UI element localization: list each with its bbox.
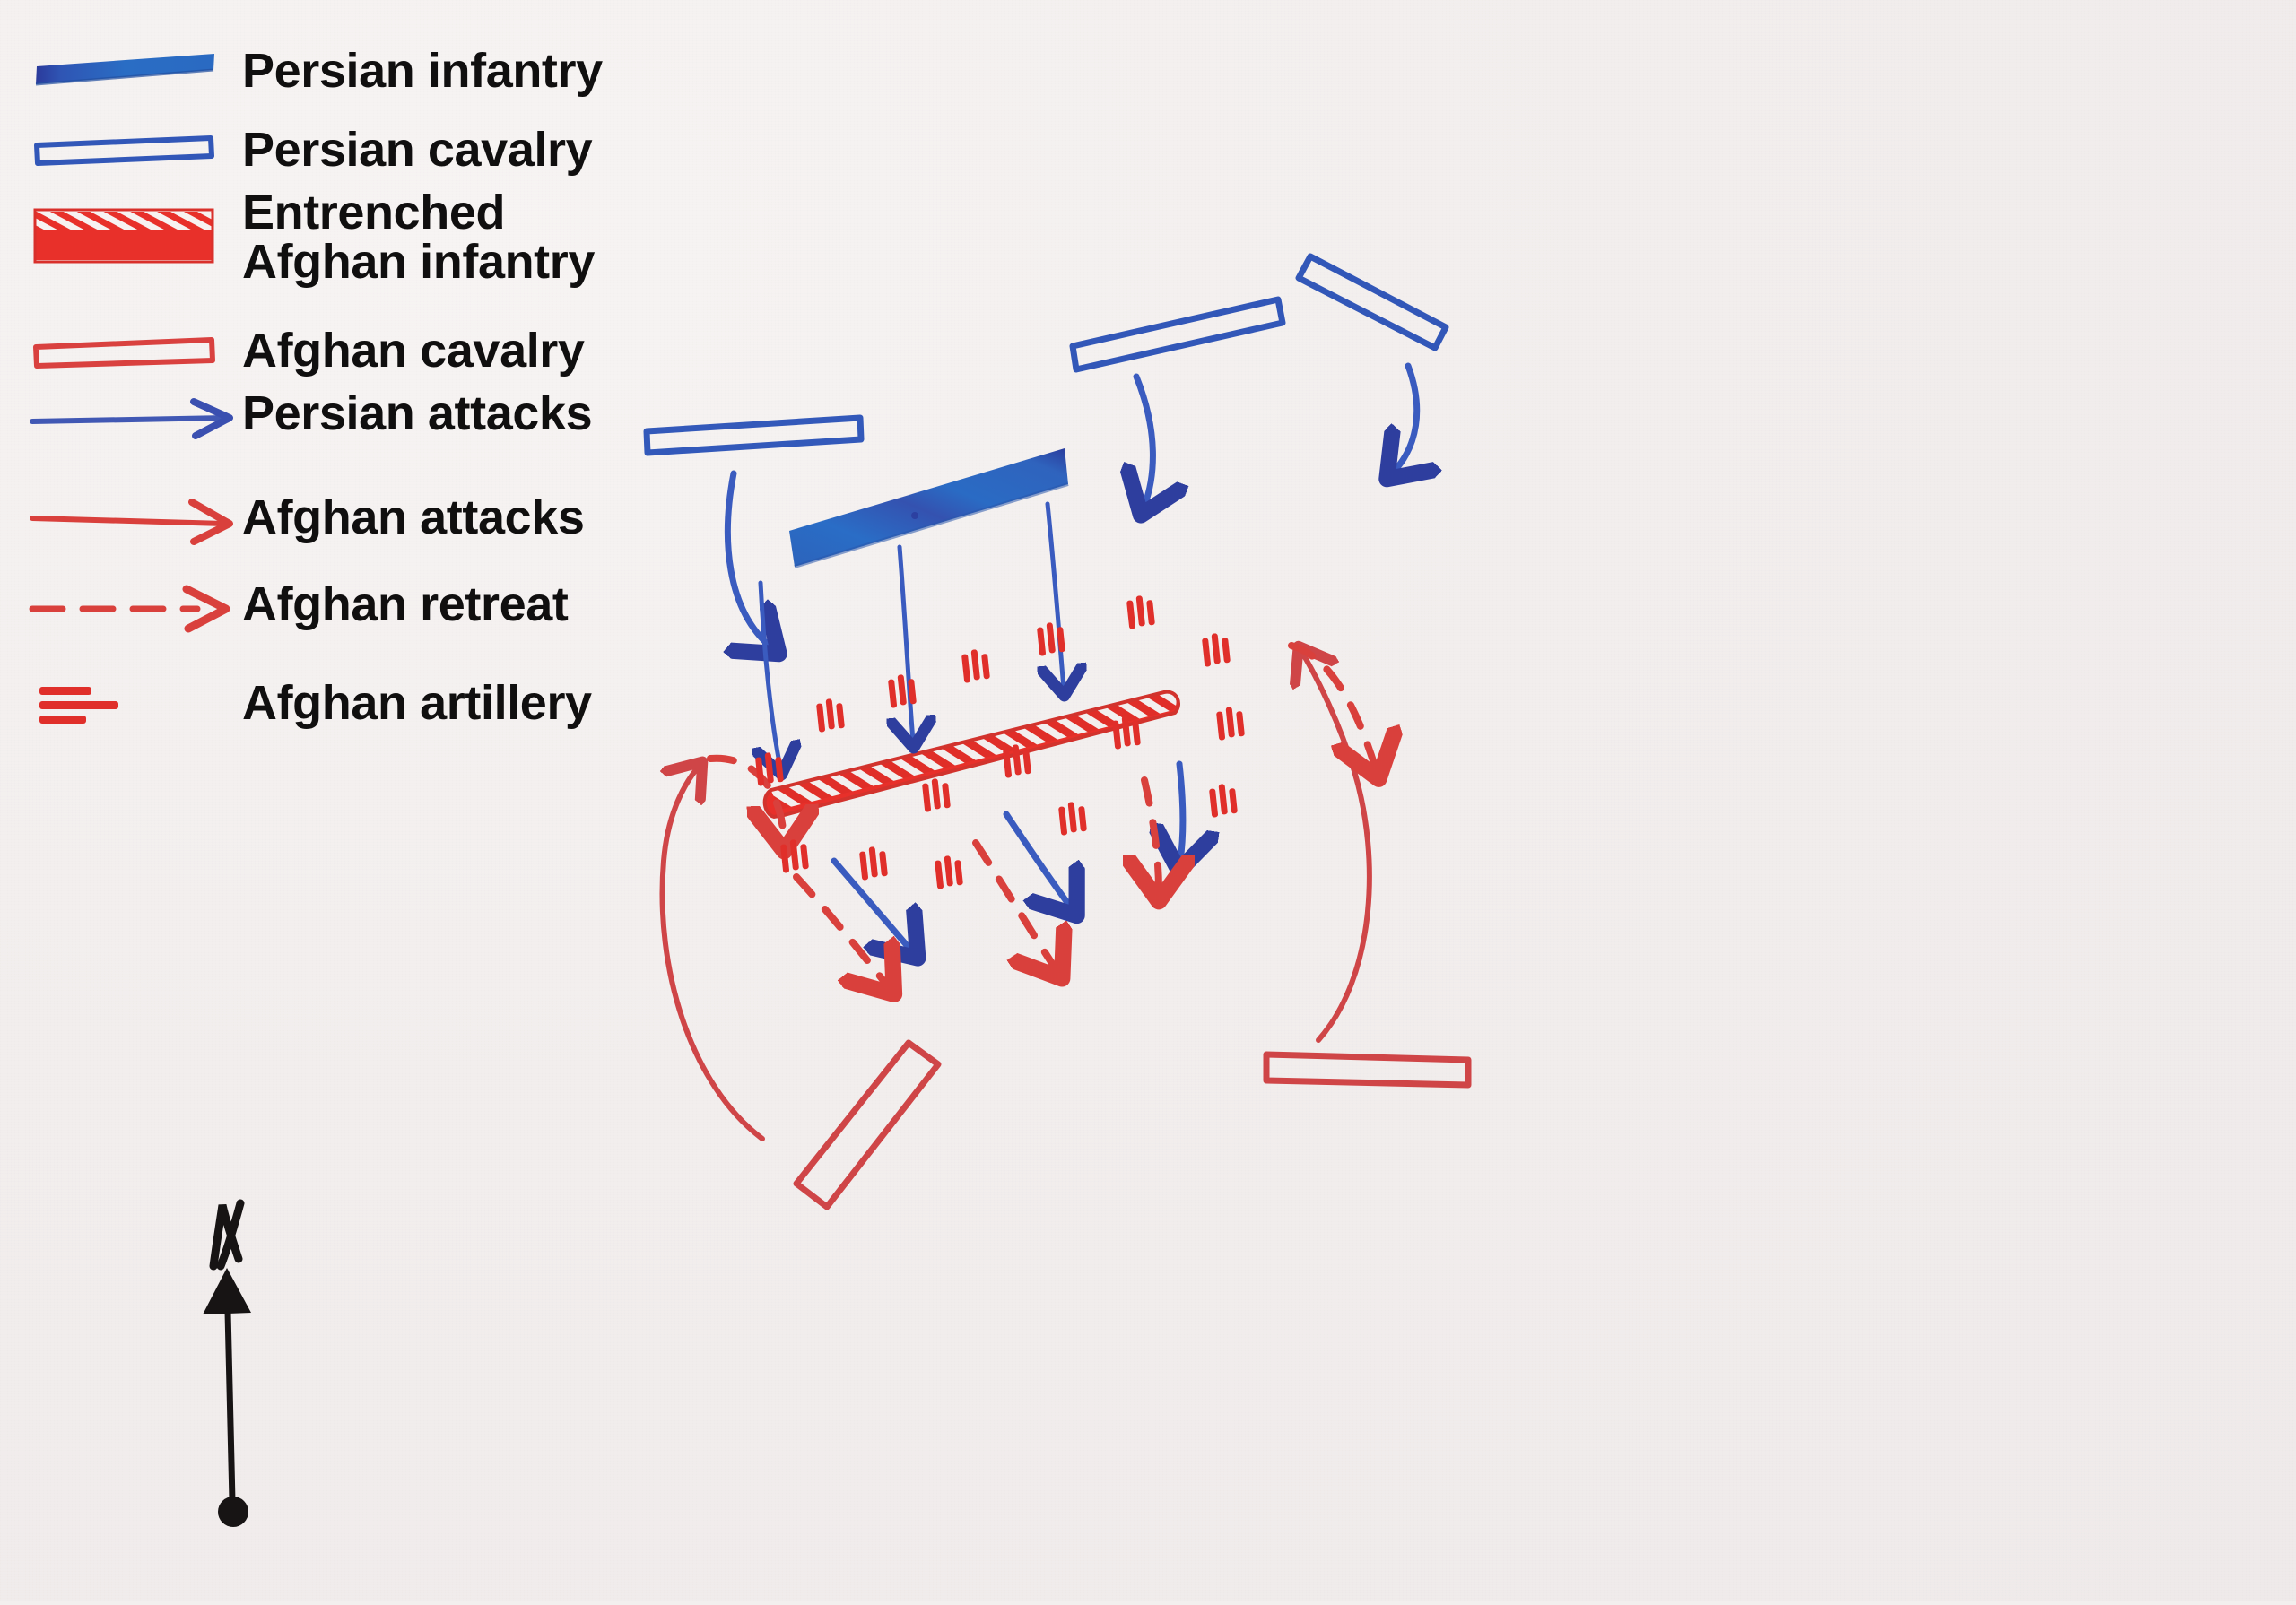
legend-item-afghan-artillery: Afghan artillery <box>0 672 592 735</box>
legend-label-persian-cavalry: Persian cavalry <box>242 126 592 175</box>
compass-north-arrow <box>161 1166 386 1551</box>
legend-swatch-persian-cavalry <box>27 124 231 178</box>
legend-item-persian-infantry: Persian infantry <box>0 45 603 99</box>
arrow-persian-attack-5 <box>1136 377 1152 506</box>
legend-swatch-entrenched-afghan-infantry <box>27 197 231 278</box>
legend-label-afghan-retreat: Afghan retreat <box>242 580 568 629</box>
arrow-persian-attack-9 <box>1179 764 1183 861</box>
unit-persian-infantry-main <box>789 448 1068 567</box>
artillery-icon <box>961 648 991 683</box>
arrow-afghan-retreat-centre-right <box>976 843 1057 970</box>
unit-persian-cavalry-right-outer <box>1299 256 1446 348</box>
unit-afghan-cavalry-right <box>1266 1054 1468 1085</box>
legend-label-afghan-cavalry: Afghan cavalry <box>242 326 585 376</box>
arrow-afghan-retreat-right-inner <box>1144 780 1159 891</box>
legend-item-persian-cavalry: Persian cavalry <box>0 124 592 178</box>
arrow-afghan-retreat-centre <box>796 877 888 986</box>
unit-persian-cavalry-right-inner <box>1073 299 1283 369</box>
artillery-icon <box>935 855 964 889</box>
artillery-icon <box>1037 621 1066 656</box>
legend-item-afghan-attacks: Afghan attacks <box>0 491 585 545</box>
compass-arrowhead <box>203 1268 251 1314</box>
legend-item-persian-attacks: Persian attacks <box>0 387 592 441</box>
legend-item-afghan-cavalry: Afghan cavalry <box>0 325 585 378</box>
unit-afghan-cavalry-left <box>796 1043 938 1207</box>
legend-swatch-persian-attacks <box>27 387 231 441</box>
artillery-icon <box>888 673 918 708</box>
artillery-icon <box>1202 632 1231 667</box>
compass-label-n <box>213 1203 240 1266</box>
legend-label-afghan-artillery: Afghan artillery <box>242 679 592 728</box>
artillery-icon <box>1058 801 1088 836</box>
legend-label-entrenched-afghan-infantry: Entrenched Afghan infantry <box>242 188 595 287</box>
compass-origin-dot <box>218 1497 248 1527</box>
compass-stem <box>228 1312 232 1501</box>
artillery-icon <box>1216 706 1246 741</box>
arrow-afghan-attack-right <box>1302 653 1370 1040</box>
artillery-icon <box>1126 594 1156 629</box>
legend-label-persian-infantry: Persian infantry <box>242 47 603 96</box>
arrow-persian-attack-3 <box>900 547 913 741</box>
battle-map <box>807 233 2296 1605</box>
legend-swatch-afghan-artillery <box>27 672 231 735</box>
legend-swatch-persian-infantry <box>27 45 231 99</box>
arrow-persian-attack-6 <box>1394 366 1417 472</box>
artillery-icon <box>816 698 846 733</box>
legend-item-entrenched-afghan-infantry: Entrenched Afghan infantry <box>0 188 595 287</box>
arrow-persian-attack-4 <box>1048 504 1064 689</box>
legend-swatch-afghan-cavalry <box>27 325 231 378</box>
legend-label-afghan-attacks: Afghan attacks <box>242 493 585 542</box>
legend-swatch-afghan-attacks <box>27 491 231 545</box>
artillery-icon <box>859 846 889 881</box>
legend: Persian infantry Persian cavalry <box>0 0 807 1121</box>
artillery-icon <box>1209 783 1239 818</box>
legend-label-persian-attacks: Persian attacks <box>242 389 592 438</box>
legend-swatch-afghan-retreat <box>27 578 231 632</box>
arrow-afghan-retreat-right <box>1291 646 1376 769</box>
legend-item-afghan-retreat: Afghan retreat <box>0 578 568 632</box>
artillery-icon <box>922 777 952 812</box>
